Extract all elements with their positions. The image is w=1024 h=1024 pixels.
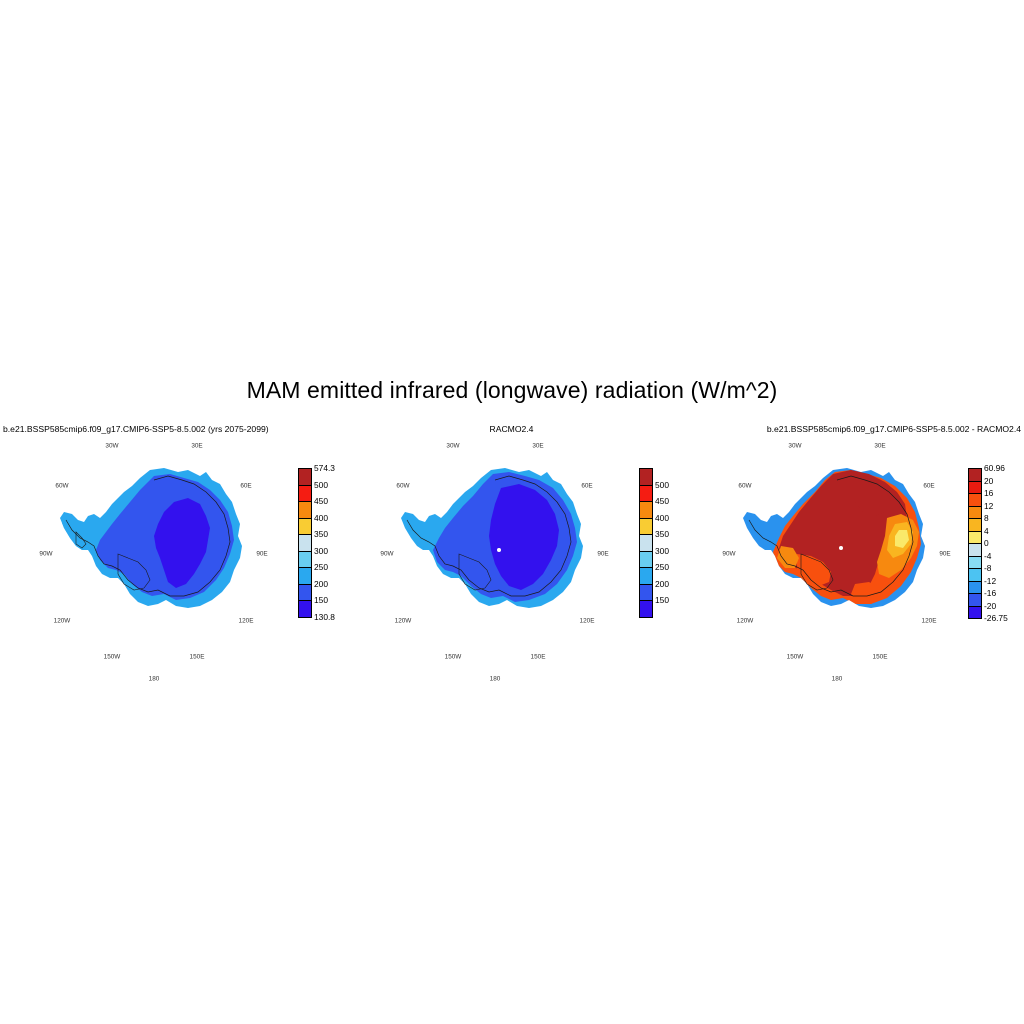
- colorbar-tick-label: 4: [984, 526, 989, 534]
- page-title: MAM emitted infrared (longwave) radiatio…: [0, 377, 1024, 404]
- lon-label: 60W: [396, 483, 409, 490]
- panel-title: b.e21.BSSP585cmip6.f09_g17.CMIP6-SSP5-8.…: [3, 424, 269, 434]
- colorbar-tick-label: 200: [655, 579, 669, 587]
- lon-label: 90E: [256, 551, 267, 558]
- pole-marker: [839, 546, 843, 550]
- colorbar-band: [640, 469, 652, 486]
- colorbar-tick-label: -20: [984, 601, 996, 609]
- colorbar-band: [299, 519, 311, 536]
- lon-label: 30E: [191, 443, 202, 450]
- colorbar-band: [969, 544, 981, 557]
- lon-label: 150E: [531, 654, 546, 661]
- lon-label: 120E: [239, 618, 254, 625]
- colorbar-band: [299, 535, 311, 552]
- lon-label: 60W: [738, 483, 751, 490]
- colorbar-tick-label: 300: [655, 546, 669, 554]
- figure-root: MAM emitted infrared (longwave) radiatio…: [0, 0, 1024, 1024]
- colorbar-band: [969, 594, 981, 607]
- colorbar-band: [969, 607, 981, 619]
- colorbar-tick-label: -26.75: [984, 614, 1008, 622]
- antarctica-map-1: [54, 458, 254, 638]
- lon-label: 60E: [923, 483, 934, 490]
- colorbar-tick-label: 150: [314, 596, 328, 604]
- colorbar-tick-label: 12: [984, 501, 993, 509]
- colorbar-strip: [639, 468, 653, 618]
- panel-racmo: RACMO2.4 30W 30E: [341, 424, 682, 674]
- colorbar-band: [640, 585, 652, 602]
- lon-label: 120E: [922, 618, 937, 625]
- lon-label: 150W: [787, 654, 804, 661]
- lon-label: 180: [149, 676, 160, 683]
- colorbar-band: [969, 469, 981, 482]
- colorbar-band: [969, 557, 981, 570]
- colorbar-tick-label: -8: [984, 564, 991, 572]
- colorbar-tick-label: 450: [314, 497, 328, 505]
- map-canvas: [737, 458, 937, 638]
- colorbar-band: [969, 569, 981, 582]
- lon-label: 180: [490, 676, 501, 683]
- colorbar-band: [969, 582, 981, 595]
- colorbar-tick-label: 150: [655, 596, 669, 604]
- map-canvas: [395, 458, 595, 638]
- lon-label: 90W: [39, 551, 52, 558]
- lon-label: 30W: [105, 443, 118, 450]
- colorbar-band: [969, 494, 981, 507]
- colorbar-band: [299, 552, 311, 569]
- colorbar-band: [299, 568, 311, 585]
- antarctica-map-2: [395, 458, 595, 638]
- colorbar-strip: [968, 468, 982, 619]
- pole-marker: [497, 548, 501, 552]
- colorbar-band: [969, 532, 981, 545]
- lon-label: 30E: [874, 443, 885, 450]
- colorbar-band: [299, 601, 311, 617]
- colorbar-band: [640, 502, 652, 519]
- map-canvas: [54, 458, 254, 638]
- lon-label: 30W: [788, 443, 801, 450]
- colorbar-tick-label: -12: [984, 576, 996, 584]
- lon-label: 150E: [190, 654, 205, 661]
- colorbar-band: [299, 486, 311, 503]
- colorbar-band: [969, 507, 981, 520]
- lon-label: 150W: [104, 654, 121, 661]
- colorbar-tick-label: 500: [655, 480, 669, 488]
- colorbar-tick-label: 300: [314, 546, 328, 554]
- lon-label: 120W: [54, 618, 71, 625]
- panel-difference: b.e21.BSSP585cmip6.f09_g17.CMIP6-SSP5-8.…: [683, 424, 1024, 674]
- map-panel-2: 30W 30E 60W 60E 90W 90E 120W 120E 150W 1…: [375, 440, 615, 665]
- lon-label: 60E: [581, 483, 592, 490]
- colorbar-strip: [298, 468, 312, 618]
- colorbar-band: [640, 601, 652, 617]
- colorbar-tick-label: 130.8: [314, 612, 335, 620]
- lon-label: 60W: [55, 483, 68, 490]
- colorbar-band: [640, 486, 652, 503]
- lon-label: 30W: [446, 443, 459, 450]
- colorbar-band: [969, 519, 981, 532]
- colorbar-tick-label: 250: [314, 563, 328, 571]
- colorbar-tick-label: 60.96: [984, 464, 1005, 472]
- colorbar-tick-label: 574.3: [314, 464, 335, 472]
- colorbar-tick-label: -4: [984, 551, 991, 559]
- lon-label: 120W: [395, 618, 412, 625]
- lon-label: 120E: [580, 618, 595, 625]
- lon-label: 150E: [873, 654, 888, 661]
- colorbar-tick-label: 200: [314, 579, 328, 587]
- colorbar-tick-label: -16: [984, 589, 996, 597]
- colorbar-tick-label: 16: [984, 489, 993, 497]
- colorbar-band: [640, 535, 652, 552]
- lon-label: 30E: [532, 443, 543, 450]
- lon-label: 60E: [240, 483, 251, 490]
- antarctica-map-3: [737, 458, 937, 638]
- map-panel-3: 30W 30E 60W 60E 90W 90E 120W 120E 150W 1…: [717, 440, 957, 665]
- colorbar-band: [640, 552, 652, 569]
- colorbar-tick-label: 350: [655, 530, 669, 538]
- colorbar-tick-label: 400: [314, 513, 328, 521]
- colorbar-band: [969, 482, 981, 495]
- colorbar-band: [299, 585, 311, 602]
- colorbar-band: [640, 519, 652, 536]
- lon-label: 150W: [445, 654, 462, 661]
- lon-label: 180: [832, 676, 843, 683]
- colorbar-band: [299, 502, 311, 519]
- colorbar-tick-label: 400: [655, 513, 669, 521]
- lon-label: 90E: [939, 551, 950, 558]
- colorbar-tick-label: 8: [984, 514, 989, 522]
- lon-label: 90W: [380, 551, 393, 558]
- panel-title: RACMO2.4: [341, 424, 682, 434]
- panel-title: b.e21.BSSP585cmip6.f09_g17.CMIP6-SSP5-8.…: [767, 424, 1021, 434]
- lon-label: 90W: [722, 551, 735, 558]
- colorbar-tick-label: 250: [655, 563, 669, 571]
- colorbar-band: [640, 568, 652, 585]
- colorbar-tick-label: 500: [314, 480, 328, 488]
- lon-label: 90E: [597, 551, 608, 558]
- colorbar-tick-label: 0: [984, 539, 989, 547]
- colorbar-tick-label: 450: [655, 497, 669, 505]
- colorbar-tick-label: 350: [314, 530, 328, 538]
- map-panel-1: 30W 30E 60W 60E 90W 90E 120W 120E 150W 1…: [34, 440, 274, 665]
- colorbar-tick-label: 20: [984, 476, 993, 484]
- panel-model: b.e21.BSSP585cmip6.f09_g17.CMIP6-SSP5-8.…: [0, 424, 341, 674]
- lon-label: 120W: [737, 618, 754, 625]
- colorbar-band: [299, 469, 311, 486]
